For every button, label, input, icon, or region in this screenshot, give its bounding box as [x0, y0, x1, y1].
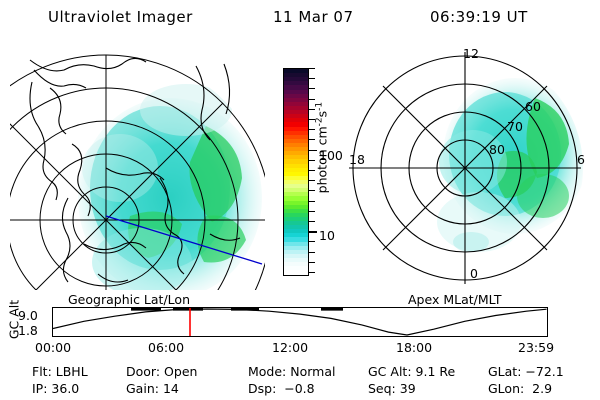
status-glon-value: 2.9 — [532, 381, 552, 396]
status-gain: Gain: 14 — [126, 381, 179, 396]
apex-panel[interactable] — [347, 46, 595, 294]
page-title: Ultraviolet Imager — [48, 8, 193, 26]
status-seq-value: 39 — [400, 381, 416, 396]
orbit-ytick-high: 9.0 — [18, 308, 38, 323]
status-glon-key: GLon: — [488, 381, 524, 396]
colorbar-unit-exp2: -1 — [314, 102, 324, 111]
orbit-xtick-0: 00:00 — [35, 340, 71, 355]
colorbar-band — [284, 270, 308, 274]
orbit-track-svg — [53, 308, 547, 336]
observation-date: 11 Mar 07 — [273, 8, 354, 26]
mlt-label-18: 18 — [349, 152, 365, 167]
mlt-label-6: 6 — [577, 152, 585, 167]
status-mode: Mode: Normal — [248, 364, 336, 379]
status-ip-value: 36.0 — [51, 381, 79, 396]
mlt-spokes — [349, 52, 581, 284]
geographic-panel[interactable] — [10, 48, 265, 290]
status-ip: IP: 36.0 — [32, 381, 79, 396]
colorbar-unit-photon: photon cm — [315, 126, 330, 193]
header: Ultraviolet Imager 11 Mar 07 06:39:19 UT — [0, 4, 600, 30]
apex-panel-caption: Apex MLat/MLT — [408, 292, 502, 307]
mlt-label-0: 0 — [470, 266, 478, 281]
aurora-emission-apex — [437, 78, 587, 252]
orbit-altitude-curve — [53, 309, 547, 335]
status-glat-key: GLat: — [488, 364, 521, 379]
status-glon: GLon: 2.9 — [488, 381, 552, 396]
colorbar[interactable]: 100 10 photon cm-2s-1 — [283, 68, 309, 276]
status-door-key: Door: — [126, 364, 160, 379]
status-seq: Seq: 39 — [368, 381, 416, 396]
mlat-label-80: 80 — [489, 142, 505, 157]
mlat-label-60: 60 — [525, 99, 541, 114]
orbit-xtick-3: 18:00 — [396, 340, 432, 355]
status-flt: Flt: LBHL — [32, 364, 88, 379]
orbit-xtick-2: 12:00 — [272, 340, 308, 355]
observation-time: 06:39:19 UT — [430, 8, 528, 26]
colorbar-tick-10: 10 — [319, 228, 335, 243]
orbit-xtick-1: 06:00 — [148, 340, 184, 355]
status-dsp-value: −0.8 — [284, 381, 314, 396]
status-gcalt: GC Alt: 9.1 Re — [368, 364, 455, 379]
status-mode-value: Normal — [290, 364, 335, 379]
orbit-ytick-low: 1.8 — [18, 323, 38, 338]
status-glat-value: −72.1 — [525, 364, 563, 379]
status-gcalt-value: 9.1 Re — [416, 364, 456, 379]
status-gain-value: 14 — [163, 381, 179, 396]
colorbar-unit-exp1: -2 — [314, 117, 324, 126]
ultraviolet-imager-window: Ultraviolet Imager 11 Mar 07 06:39:19 UT — [0, 0, 600, 400]
orbit-altitude-plot[interactable] — [52, 307, 548, 337]
orbit-xtick-4: 23:59 — [518, 340, 554, 355]
status-dsp: Dsp: −0.8 — [248, 381, 315, 396]
status-dsp-key: Dsp: — [248, 381, 276, 396]
status-door: Door: Open — [126, 364, 197, 379]
mlat-label-70: 70 — [507, 119, 523, 134]
status-gain-key: Gain: — [126, 381, 159, 396]
status-flt-key: Flt: — [32, 364, 52, 379]
status-ip-key: IP: — [32, 381, 47, 396]
status-mode-key: Mode: — [248, 364, 286, 379]
status-glat: GLat: −72.1 — [488, 364, 564, 379]
geographic-panel-caption: Geographic Lat/Lon — [68, 292, 190, 307]
status-flt-value: LBHL — [56, 364, 88, 379]
geographic-plot — [10, 48, 265, 290]
mlt-label-12: 12 — [463, 46, 479, 61]
colorbar-axis-title: photon cm-2s-1 — [314, 73, 329, 223]
status-footer: Flt: LBHL Door: Open Mode: Normal GC Alt… — [0, 364, 600, 398]
status-gcalt-key: GC Alt: — [368, 364, 412, 379]
colorbar-gradient — [283, 68, 309, 276]
colorbar-unit-s: s — [315, 111, 330, 118]
apex-plot — [347, 46, 595, 294]
status-seq-key: Seq: — [368, 381, 396, 396]
status-door-value: Open — [164, 364, 197, 379]
